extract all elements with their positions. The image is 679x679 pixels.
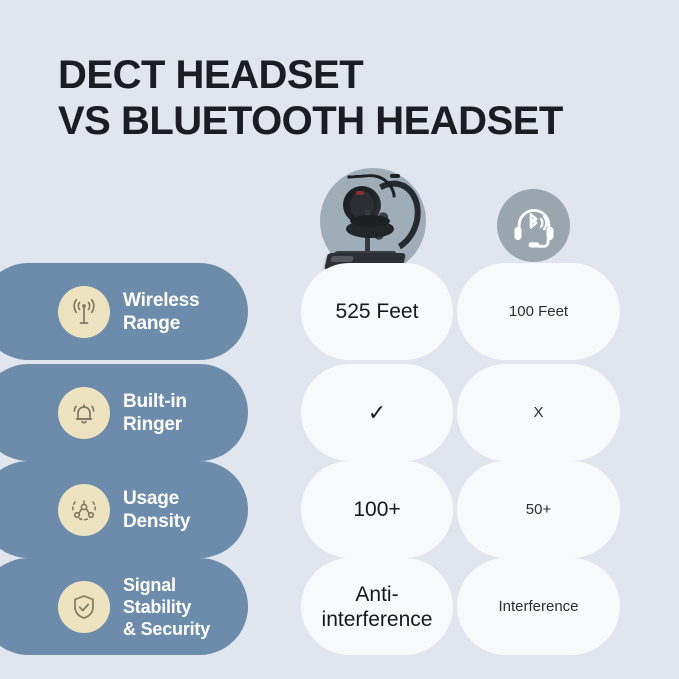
bluetooth-headset-icon xyxy=(497,189,570,262)
network-nodes-icon xyxy=(58,484,110,536)
cell-value: X xyxy=(533,403,543,422)
feature-signal-stability-security[interactable]: Signal Stability & Security xyxy=(0,558,248,655)
feature-label: Wireless Range xyxy=(123,289,199,335)
wireless-signal-icon xyxy=(58,286,110,338)
cell-value: 100+ xyxy=(353,497,400,522)
feature-label: Signal Stability & Security xyxy=(123,574,248,640)
bell-icon xyxy=(58,387,110,439)
bluetooth-value-cell: Interference xyxy=(457,558,620,655)
infographic-canvas: DECT HEADSET VS BLUETOOTH HEADSET xyxy=(0,0,679,679)
cell-value: Anti- interference xyxy=(322,582,433,632)
dect-value-cell: 525 Feet xyxy=(301,263,453,360)
dect-headset-photo xyxy=(320,168,426,274)
bluetooth-value-cell: 100 Feet xyxy=(457,263,620,360)
dect-value-cell: ✓ xyxy=(301,364,453,461)
page-title: DECT HEADSET VS BLUETOOTH HEADSET xyxy=(58,52,563,144)
headset-bluetooth-icon xyxy=(509,201,559,251)
bluetooth-value-cell: 50+ xyxy=(457,461,620,558)
dect-headset-illustration xyxy=(320,168,426,274)
feature-label: Built-in Ringer xyxy=(123,390,187,436)
shield-check-icon xyxy=(58,581,110,633)
feature-usage-density[interactable]: Usage Density xyxy=(0,461,248,558)
feature-label: Usage Density xyxy=(123,487,190,533)
cell-value: 50+ xyxy=(526,500,551,519)
dect-value-cell: Anti- interference xyxy=(301,558,453,655)
feature-built-in-ringer[interactable]: Built-in Ringer xyxy=(0,364,248,461)
cell-value: 100 Feet xyxy=(509,302,568,321)
dect-value-cell: 100+ xyxy=(301,461,453,558)
cell-value: Interference xyxy=(498,597,578,616)
feature-wireless-range[interactable]: Wireless Range xyxy=(0,263,248,360)
cell-value: 525 Feet xyxy=(336,299,419,324)
bluetooth-value-cell: X xyxy=(457,364,620,461)
cell-value: ✓ xyxy=(368,400,386,425)
